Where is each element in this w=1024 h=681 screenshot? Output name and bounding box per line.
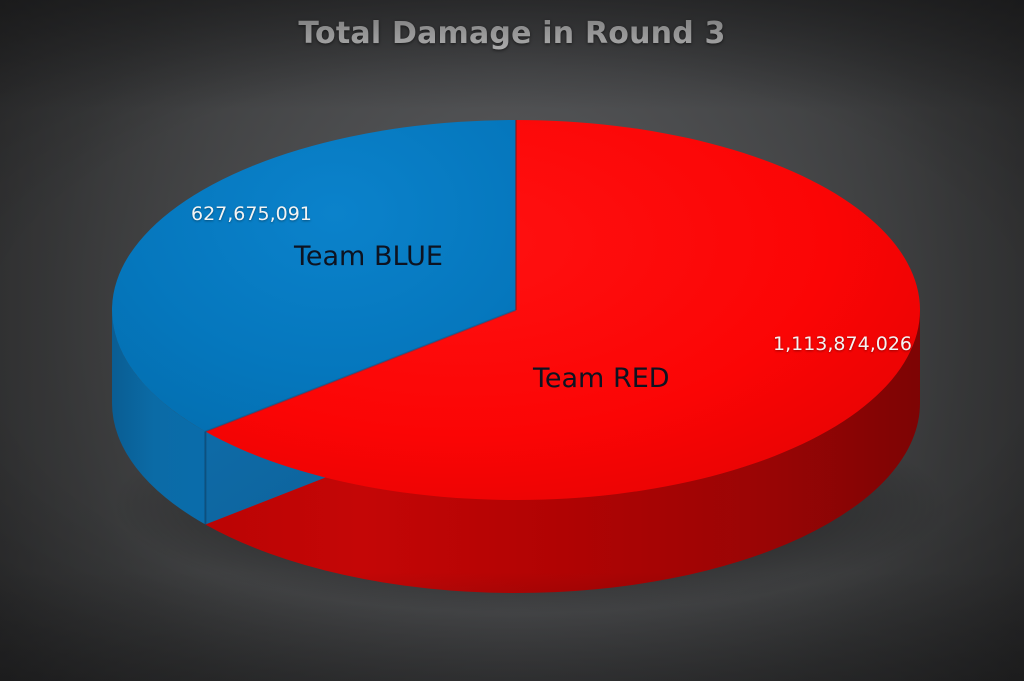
chart-canvas: Total Damage in Round 3 627,675,091 Team…: [0, 0, 1024, 681]
background-vignette: [0, 0, 1024, 681]
